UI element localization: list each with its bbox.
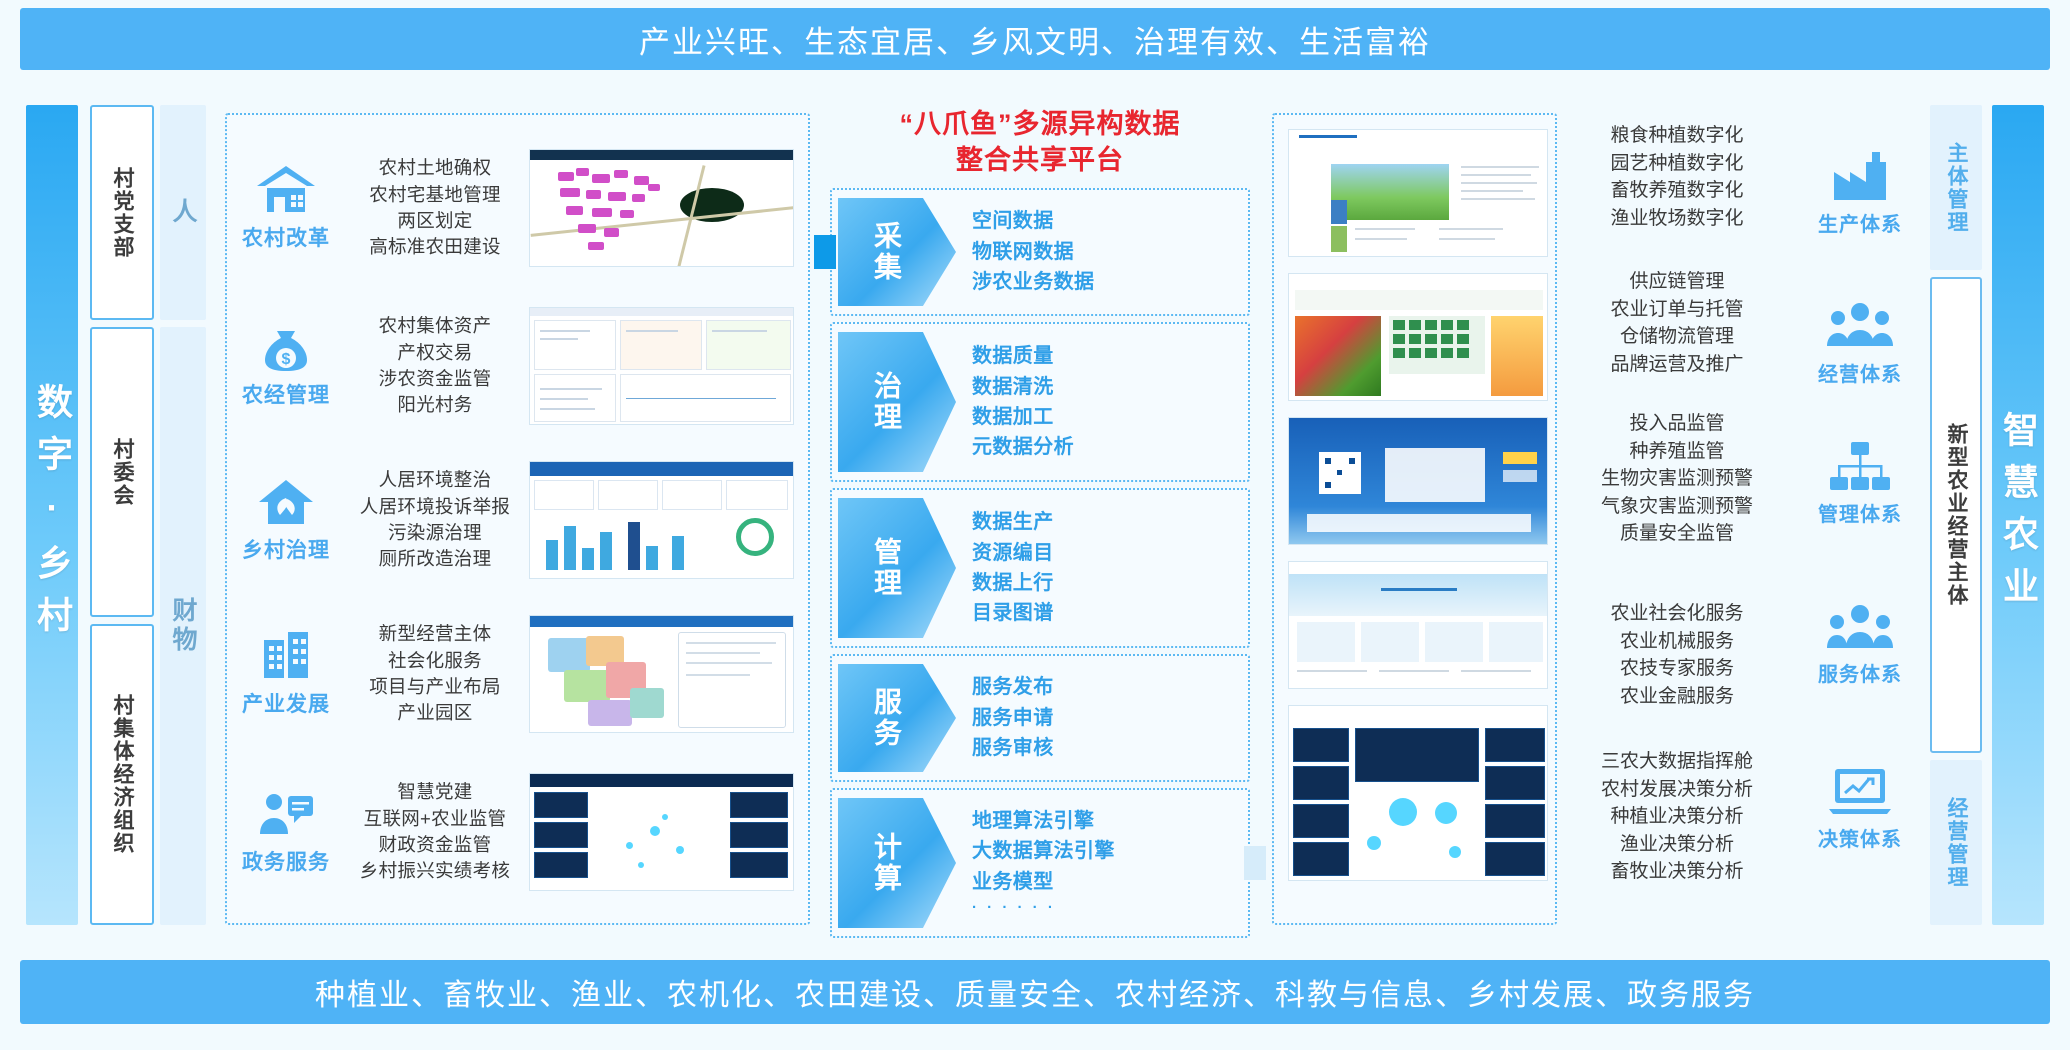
stage-item: 服务申请	[972, 703, 1248, 733]
domain-card[interactable]: 乡村治理 人居环境整治 人居环境投诉举报 污染源治理 厕所改造治理	[227, 445, 812, 595]
bigdata-cockpit-screenshot	[1288, 705, 1548, 881]
stage-item: 涉农业务数据	[972, 267, 1248, 297]
right-label-text: 新型农业经营主体	[1941, 423, 1971, 607]
card-line: 产业园区	[345, 700, 525, 726]
svg-text:$: $	[282, 351, 291, 368]
stage-item: 数据加工	[972, 402, 1248, 432]
stage-name: 采集	[866, 221, 906, 283]
service-people-icon	[1826, 600, 1894, 652]
stage-item: 服务审核	[972, 733, 1248, 763]
right-text-line: 园艺种植数字化	[1562, 150, 1792, 178]
platform-stage[interactable]: 治理 数据质量 数据清洗 数据加工 元数据分析	[830, 322, 1250, 482]
office-window-screenshot	[529, 307, 794, 425]
card-icon-wrap: 农村改革	[227, 164, 345, 252]
right-text-line: 农业社会化服务	[1562, 600, 1792, 628]
right-text-line: 种养殖监管	[1562, 438, 1792, 466]
top-banner: 产业兴旺、生态宜居、乡风文明、治理有效、生活富裕	[20, 8, 2050, 70]
stage-item: · · · · · ·	[972, 897, 1248, 920]
stage-connector-right	[1244, 846, 1266, 880]
stage-chevron: 计算	[838, 798, 956, 928]
stage-name: 计算	[866, 832, 906, 894]
org-box-label: 村委会	[107, 438, 137, 507]
platform-title-line2: 整合共享平台	[830, 142, 1250, 178]
left-rail-label: 数字·乡村	[26, 383, 78, 648]
right-text-line: 三农大数据指挥舱	[1562, 748, 1792, 776]
system-label: 服务体系	[1790, 658, 1930, 687]
card-line: 农村集体资产	[345, 313, 525, 339]
right-text-line: 畜牧养殖数字化	[1562, 177, 1792, 205]
resource-label: 人	[165, 198, 201, 227]
card-line: 智慧党建	[345, 779, 525, 805]
stage-items: 数据质量 数据清洗 数据加工 元数据分析	[956, 341, 1248, 463]
right-label-operations-management: 经营管理	[1930, 760, 1982, 925]
people-group-icon	[1826, 300, 1894, 352]
right-label-text: 主体管理	[1941, 142, 1971, 234]
right-text-line: 农业机械服务	[1562, 628, 1792, 656]
domain-card[interactable]: 农村改革 农村土地确权 农村宅基地管理 两区划定 高标准农田建设	[227, 129, 812, 287]
platform-section: “八爪鱼”多源异构数据 整合共享平台 采集 空间数据 物联网数据 涉农业务数据 …	[830, 100, 1250, 925]
card-icon-wrap: 政务服务	[227, 788, 345, 876]
platform-title: “八爪鱼”多源异构数据 整合共享平台	[830, 106, 1250, 179]
card-line: 高标准农田建设	[345, 234, 525, 260]
service-platform-screenshot	[1288, 561, 1548, 689]
card-name: 乡村治理	[242, 534, 330, 564]
system-label: 决策体系	[1790, 823, 1930, 852]
house-icon	[255, 164, 317, 216]
dashboard-screenshot	[529, 461, 794, 579]
system-label: 经营体系	[1790, 358, 1930, 387]
stage-chevron: 采集	[838, 198, 956, 306]
system-item-service[interactable]: 服务体系	[1790, 600, 1930, 687]
platform-stage[interactable]: 采集 空间数据 物联网数据 涉农业务数据	[830, 188, 1250, 316]
right-text-line: 品牌运营及推广	[1562, 351, 1792, 379]
org-chart-icon	[1828, 440, 1892, 492]
card-line: 阳光村务	[345, 392, 525, 418]
right-text-line: 农村发展决策分析	[1562, 776, 1792, 804]
card-line: 人居环境整治	[345, 467, 525, 493]
right-text-line: 投入品监管	[1562, 410, 1792, 438]
money-bag-icon: $	[257, 323, 315, 373]
system-item-decision[interactable]: 决策体系	[1790, 765, 1930, 852]
card-icon-wrap: 乡村治理	[227, 476, 345, 564]
right-text-line: 渔业决策分析	[1562, 831, 1792, 859]
org-box-collective-economy[interactable]: 村集体经济组织	[90, 624, 154, 925]
stage-items: 空间数据 物联网数据 涉农业务数据	[956, 206, 1248, 297]
card-line: 互联网+农业监管	[345, 806, 525, 832]
map-gis-screenshot	[529, 615, 794, 733]
domain-card[interactable]: 产业发展 新型经营主体 社会化服务 项目与产业布局 产业园区	[227, 599, 812, 749]
stage-item: 业务模型	[972, 867, 1248, 897]
card-text: 新型经营主体 社会化服务 项目与产业布局 产业园区	[345, 621, 525, 726]
card-line: 新型经营主体	[345, 621, 525, 647]
card-name: 政务服务	[242, 846, 330, 876]
org-box-village-committee[interactable]: 村委会	[90, 327, 154, 617]
resource-box-finance-assets: 财物	[160, 327, 206, 925]
card-line: 社会化服务	[345, 648, 525, 674]
top-banner-text: 产业兴旺、生态宜居、乡风文明、治理有效、生活富裕	[639, 17, 1431, 62]
left-rail: 数字·乡村	[26, 105, 78, 925]
right-text-line: 农业订单与托管	[1562, 296, 1792, 324]
home-leaf-icon	[257, 476, 315, 528]
laptop-chart-icon	[1827, 765, 1893, 817]
right-text-line: 畜牧业决策分析	[1562, 858, 1792, 886]
right-text-line: 粮食种植数字化	[1562, 122, 1792, 150]
card-line: 产权交易	[345, 340, 525, 366]
right-text-line: 农业金融服务	[1562, 683, 1792, 711]
stage-chevron: 管理	[838, 498, 956, 638]
card-name: 农村改革	[242, 222, 330, 252]
system-item-operations[interactable]: 经营体系	[1790, 300, 1930, 387]
system-item-management[interactable]: 管理体系	[1790, 440, 1930, 527]
right-text-line: 气象灾害监测预警	[1562, 493, 1792, 521]
platform-stage[interactable]: 服务 服务发布 服务申请 服务审核	[830, 654, 1250, 782]
right-label-column: 主体管理 新型农业经营主体 经营管理	[1930, 105, 1982, 925]
right-label-text: 经营管理	[1941, 797, 1971, 889]
resource-label: 财物	[165, 597, 201, 655]
stage-item: 空间数据	[972, 206, 1248, 236]
resource-box-people: 人	[160, 105, 206, 320]
right-text-line: 农技专家服务	[1562, 655, 1792, 683]
right-text-block: 农业社会化服务 农业机械服务 农技专家服务 农业金融服务	[1562, 600, 1792, 710]
card-text: 人居环境整治 人居环境投诉举报 污染源治理 厕所改造治理	[345, 467, 525, 572]
stage-item: 目录图谱	[972, 598, 1248, 628]
stage-items: 服务发布 服务申请 服务审核	[956, 672, 1248, 763]
card-line: 厕所改造治理	[345, 546, 525, 572]
stage-item: 元数据分析	[972, 432, 1248, 462]
org-box-label: 村党支部	[107, 167, 137, 259]
platform-stage[interactable]: 管理 数据生产 资源编目 数据上行 目录图谱	[830, 488, 1250, 648]
stage-item: 数据清洗	[972, 372, 1248, 402]
bottom-banner: 种植业、畜牧业、渔业、农机化、农田建设、质量安全、农村经济、科教与信息、乡村发展…	[20, 960, 2050, 1024]
stage-item: 服务发布	[972, 672, 1248, 702]
stage-item: 数据生产	[972, 507, 1248, 537]
right-text-line: 供应链管理	[1562, 268, 1792, 296]
domain-card-panel: 农村改革 农村土地确权 农村宅基地管理 两区划定 高标准农田建设	[225, 113, 810, 925]
food-safety-screenshot	[1288, 417, 1548, 545]
card-icon-wrap: 产业发展	[227, 630, 345, 718]
satellite-map-screenshot	[529, 149, 794, 267]
right-text-line: 仓储物流管理	[1562, 323, 1792, 351]
card-line: 财政资金监管	[345, 832, 525, 858]
stage-items: 数据生产 资源编目 数据上行 目录图谱	[956, 507, 1248, 629]
card-name: 产业发展	[242, 688, 330, 718]
system-label: 生产体系	[1790, 208, 1930, 237]
factory-icon	[1828, 150, 1892, 202]
right-label-subject-management: 主体管理	[1930, 105, 1982, 270]
stage-item: 数据上行	[972, 568, 1248, 598]
stage-name: 治理	[866, 371, 906, 433]
card-icon-wrap: $ 农经管理	[227, 323, 345, 409]
org-column: 村党支部 村委会 村集体经济组织	[90, 105, 154, 925]
stage-chevron: 治理	[838, 332, 956, 472]
right-text-block: 三农大数据指挥舱 农村发展决策分析 种植业决策分析 渔业决策分析 畜牧业决策分析	[1562, 748, 1792, 886]
platform-stage[interactable]: 计算 地理算法引擎 大数据算法引擎 业务模型 · · · · · ·	[830, 788, 1250, 938]
system-label: 管理体系	[1790, 498, 1930, 527]
right-text-line: 渔业牧场数字化	[1562, 205, 1792, 233]
right-screenshot-panel	[1272, 113, 1557, 925]
card-line: 农村宅基地管理	[345, 182, 525, 208]
right-label-new-agri-entity: 新型农业经营主体	[1930, 277, 1982, 753]
card-line: 农村土地确权	[345, 155, 525, 181]
stage-connector-left	[814, 235, 836, 269]
stage-chevron: 服务	[838, 664, 956, 772]
system-item-production[interactable]: 生产体系	[1790, 150, 1930, 237]
right-rail: 智慧农业	[1992, 105, 2044, 925]
right-text-line: 种植业决策分析	[1562, 803, 1792, 831]
card-line: 涉农资金监管	[345, 366, 525, 392]
right-text-line: 质量安全监管	[1562, 520, 1792, 548]
resource-column: 人 财物	[160, 105, 206, 925]
stage-item: 物联网数据	[972, 237, 1248, 267]
card-line: 人居环境投诉举报	[345, 494, 525, 520]
platform-title-line1: “八爪鱼”多源异构数据	[830, 106, 1250, 142]
domain-card[interactable]: 政务服务 智慧党建 互联网+农业监管 财政资金监管 乡村振兴实绩考核	[227, 753, 812, 911]
stage-item: 大数据算法引擎	[972, 836, 1248, 866]
agri-portal-screenshot	[1288, 129, 1548, 257]
org-box-label: 村集体经济组织	[107, 694, 137, 855]
card-text: 农村土地确权 农村宅基地管理 两区划定 高标准农田建设	[345, 155, 525, 260]
service-person-icon	[256, 788, 316, 840]
card-line: 项目与产业布局	[345, 674, 525, 700]
card-name: 农经管理	[242, 379, 330, 409]
right-text-line: 生物灾害监测预警	[1562, 465, 1792, 493]
right-text-block: 投入品监管 种养殖监管 生物灾害监测预警 气象灾害监测预警 质量安全监管	[1562, 410, 1792, 548]
domain-card[interactable]: $ 农经管理 农村集体资产 产权交易 涉农资金监管 阳光村务	[227, 291, 812, 441]
stage-name: 管理	[866, 537, 906, 599]
stage-item: 地理算法引擎	[972, 806, 1248, 836]
right-text-block: 粮食种植数字化 园艺种植数字化 畜牧养殖数字化 渔业牧场数字化	[1562, 122, 1792, 232]
bottom-banner-text: 种植业、畜牧业、渔业、农机化、农田建设、质量安全、农村经济、科教与信息、乡村发展…	[315, 970, 1755, 1014]
card-line: 两区划定	[345, 208, 525, 234]
card-text: 农村集体资产 产权交易 涉农资金监管 阳光村务	[345, 313, 525, 418]
stage-item: 数据质量	[972, 341, 1248, 371]
right-rail-label: 智慧农业	[1992, 411, 2044, 619]
card-text: 智慧党建 互联网+农业监管 财政资金监管 乡村振兴实绩考核	[345, 779, 525, 884]
stage-items: 地理算法引擎 大数据算法引擎 业务模型 · · · · · ·	[956, 806, 1248, 920]
card-line: 污染源治理	[345, 520, 525, 546]
right-text-block: 供应链管理 农业订单与托管 仓储物流管理 品牌运营及推广	[1562, 268, 1792, 378]
card-line: 乡村振兴实绩考核	[345, 858, 525, 884]
produce-trade-screenshot	[1288, 273, 1548, 401]
org-box-party-branch[interactable]: 村党支部	[90, 105, 154, 320]
diagram-root: 产业兴旺、生态宜居、乡风文明、治理有效、生活富裕 数字·乡村 村党支部 村委会 …	[0, 0, 2070, 1050]
dark-dashboard-screenshot	[529, 773, 794, 891]
stage-item: 资源编目	[972, 538, 1248, 568]
building-icon	[258, 630, 314, 682]
stage-name: 服务	[866, 687, 906, 749]
